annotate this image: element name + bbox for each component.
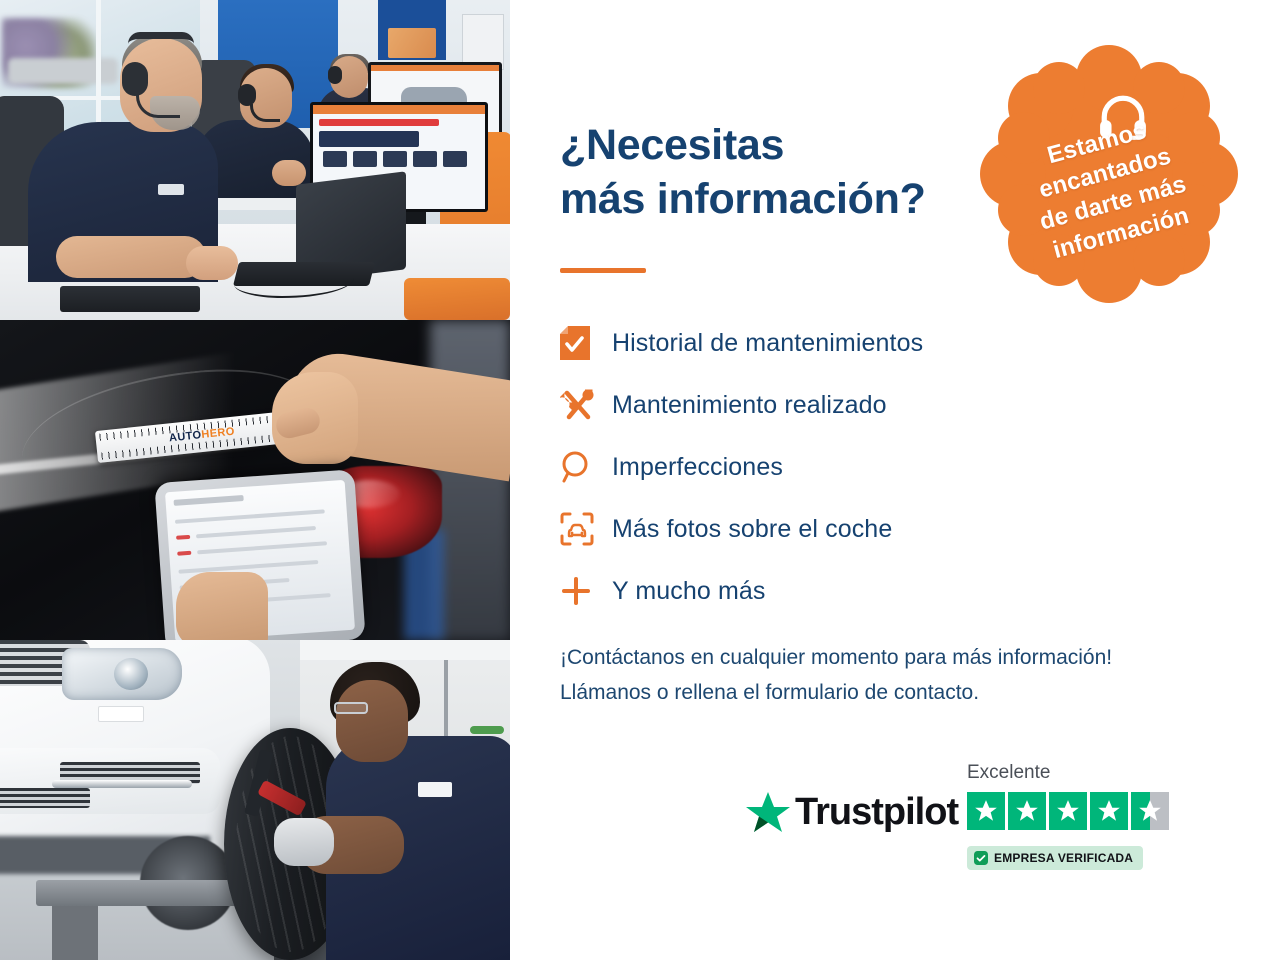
agent-three-headset [328, 66, 342, 84]
car-inspection-ruler-photo: AUTOHERO [0, 320, 510, 640]
bumper-chrome-trim [52, 780, 192, 788]
trustpilot-logo: Trustpilot [745, 790, 958, 834]
mechanic-glove [274, 818, 334, 866]
paragraph-line-2: Llámanos o rellena el formulario de cont… [560, 675, 1240, 710]
feature-item-more-photos: Más fotos sobre el coche [560, 498, 1080, 560]
promo-page: AUTOHERO [0, 0, 1280, 960]
verified-check-icon [974, 851, 988, 865]
agent-one-badge [158, 184, 184, 195]
feature-item-maintenance-history: Historial de mantenimientos [560, 312, 1080, 374]
star-1 [967, 792, 1005, 830]
feature-list: Historial de mantenimientos Mantenimient… [560, 312, 1080, 622]
mechanic-sleeve-logo [418, 782, 452, 797]
verified-label: EMPRESA VERIFICADA [994, 851, 1133, 865]
feature-label: Más fotos sobre el coche [612, 515, 892, 544]
plus-icon [560, 575, 612, 607]
trustpilot-widget: Trustpilot Excelente [745, 762, 1225, 882]
mechanic-glasses [334, 702, 368, 714]
mechanic-head [336, 680, 408, 762]
car-plate [98, 706, 144, 722]
headline-line-1: ¿Necesitas [560, 118, 990, 172]
feature-item-maintenance-done: Mantenimiento realizado [560, 374, 1080, 436]
agent-one-headset [122, 62, 148, 96]
call-center-agents-photo [0, 0, 510, 320]
car-scan-icon [560, 512, 612, 546]
feature-label: Y mucho más [612, 577, 765, 606]
document-check-icon [560, 326, 612, 360]
orange-chair-front [404, 278, 510, 320]
agent-one-headband [128, 32, 194, 44]
headline-line-2: más información? [560, 172, 990, 226]
trustpilot-star-icon [745, 790, 791, 834]
trustpilot-stars [967, 792, 1169, 830]
desk-tablet [60, 286, 200, 312]
page-title: ¿Necesitas más información? [560, 118, 990, 226]
contact-paragraph: ¡Contáctanos en cualquier momento para m… [560, 640, 1240, 710]
verified-company-badge: EMPRESA VERIFICADA [967, 846, 1143, 870]
magnifier-icon [560, 450, 612, 484]
agent-one-arm [56, 236, 206, 278]
star-2 [1008, 792, 1046, 830]
feature-item-imperfections: Imperfecciones [560, 436, 1080, 498]
star-5-partial [1131, 792, 1169, 830]
green-hose [470, 726, 504, 734]
support-badge: Estamos encantados de darte más informac… [978, 42, 1240, 307]
bumper-vent-side [0, 788, 90, 808]
agent-two-hand [272, 160, 306, 186]
car-headlight [62, 648, 182, 700]
title-divider [560, 268, 646, 273]
trustpilot-wordmark: Trustpilot [795, 791, 958, 834]
feature-label: Mantenimiento realizado [612, 391, 887, 420]
car-lift-platform [36, 880, 246, 906]
window-carpark [8, 58, 118, 84]
agent-one-hand [186, 246, 238, 280]
workshop-ceiling [300, 640, 510, 660]
feature-label: Historial de mantenimientos [612, 329, 923, 358]
agent-two-headset [238, 84, 256, 106]
star-4 [1090, 792, 1128, 830]
feature-item-more: Y mucho más [560, 560, 1080, 622]
content-panel: ¿Necesitas más información? [510, 0, 1280, 960]
star-3 [1049, 792, 1087, 830]
feature-label: Imperfecciones [612, 453, 783, 482]
workshop-wheel-change-photo [0, 640, 510, 960]
car-lift-column [52, 906, 98, 960]
tools-wrench-screwdriver-icon [560, 388, 612, 422]
wall-poster-image [388, 28, 436, 58]
trustpilot-rating-label: Excelente [967, 762, 1050, 784]
inspector-hand-holding-tablet [176, 572, 268, 640]
photo-column: AUTOHERO [0, 0, 510, 960]
paragraph-line-1: ¡Contáctanos en cualquier momento para m… [560, 640, 1240, 675]
